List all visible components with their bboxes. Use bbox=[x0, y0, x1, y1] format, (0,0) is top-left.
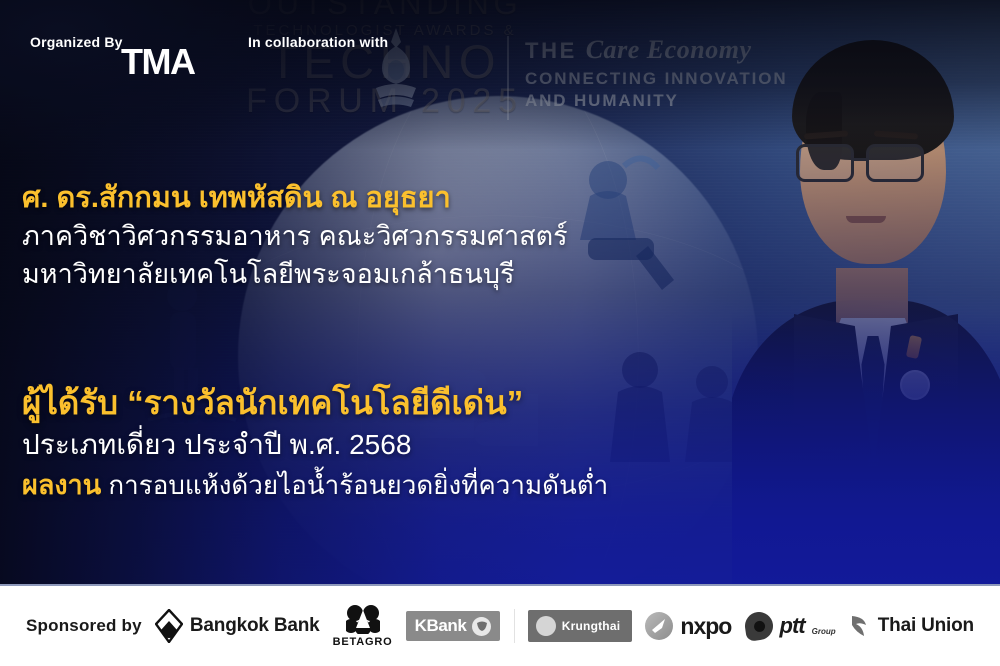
nxpo-swoosh-icon bbox=[645, 612, 673, 640]
collaboration-label: In collaboration with bbox=[248, 34, 388, 50]
speaker-info: ศ. ดร.สักกมน เทพหัสดิน ณ อยุธยา ภาควิชาว… bbox=[22, 180, 568, 294]
bangkok-bank-diamond-icon bbox=[155, 609, 183, 643]
sponsor-name-nxpo: nxpo bbox=[680, 613, 731, 640]
sponsor-name-betagro: BETAGRO bbox=[333, 636, 393, 648]
sponsor-logo-kbank[interactable]: KBank bbox=[406, 611, 501, 641]
sponsor-name-ptt: ptt bbox=[780, 613, 805, 639]
sponsor-logo-thai-union[interactable]: Thai Union bbox=[849, 613, 974, 639]
kbank-eye-icon bbox=[472, 617, 491, 636]
sponsor-logo-betagro[interactable]: BETAGRO bbox=[333, 604, 393, 648]
credits-bar: Organized By TMA In collaboration with bbox=[0, 0, 1000, 110]
sponsor-sub-ptt: Group bbox=[812, 627, 836, 636]
ptt-flame-icon bbox=[743, 610, 775, 642]
sponsor-divider bbox=[514, 609, 515, 643]
sponsor-bar: Sponsored by Bangkok Bank bbox=[0, 584, 1000, 666]
betagro-flower-icon bbox=[346, 604, 380, 634]
award-title: ผู้ได้รับ “รางวัลนักเทคโนโลยีดีเด่น” bbox=[22, 382, 608, 425]
award-work-label: ผลงาน bbox=[22, 470, 101, 500]
award-work-value: การอบแห้งด้วยไอน้ำร้อนยวดยิ่งที่ความดันต… bbox=[108, 470, 608, 500]
award-poster: OUTSTANDING TECHNOLOGIST AWARDS & TECHNO… bbox=[0, 0, 1000, 666]
sponsor-name-bangkok-bank: Bangkok Bank bbox=[190, 615, 320, 637]
award-work: ผลงาน การอบแห้งด้วยไอน้ำร้อนยวดยิ่งที่คว… bbox=[22, 466, 608, 505]
sponsor-logo-krungthai[interactable]: Krungthai bbox=[528, 610, 632, 642]
krungthai-seal-icon bbox=[536, 616, 556, 636]
speaker-department: ภาควิชาวิศวกรรมอาหาร คณะวิศวกรรมศาสตร์ bbox=[22, 217, 568, 255]
tma-logo: TMA bbox=[121, 44, 194, 80]
sponsor-logo-nxpo[interactable]: nxpo bbox=[645, 612, 731, 640]
organized-by-label: Organized By bbox=[30, 34, 123, 50]
sponsored-by-label: Sponsored by bbox=[26, 616, 142, 636]
speaker-name: ศ. ดร.สักกมน เทพหัสดิน ณ อยุธยา bbox=[22, 180, 568, 217]
sponsor-name-krungthai: Krungthai bbox=[562, 619, 620, 633]
speaker-university: มหาวิทยาลัยเทคโนโลยีพระจอมเกล้าธนบุรี bbox=[22, 255, 568, 293]
award-info: ผู้ได้รับ “รางวัลนักเทคโนโลยีดีเด่น” ประ… bbox=[22, 382, 608, 505]
sponsor-name-kbank: KBank bbox=[415, 616, 467, 636]
sponsor-logo-bangkok-bank[interactable]: Bangkok Bank bbox=[155, 609, 320, 643]
thai-union-wave-icon bbox=[849, 613, 871, 639]
sponsor-name-thai-union: Thai Union bbox=[878, 615, 974, 637]
sponsor-logo-ptt[interactable]: ptt Group bbox=[745, 612, 836, 640]
award-category: ประเภทเดี่ยว ประจำปี พ.ศ. 2568 bbox=[22, 425, 608, 466]
